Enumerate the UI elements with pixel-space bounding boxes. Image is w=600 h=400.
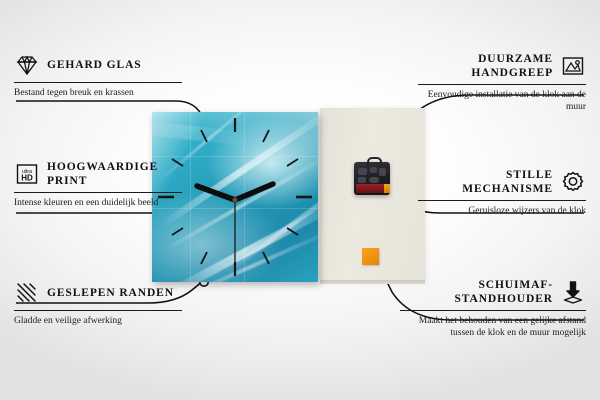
feature-title: HOOGWAARDIGE PRINT xyxy=(47,160,182,188)
tick-1 xyxy=(263,130,269,142)
feature-header: DUURZAME HANDGREEP xyxy=(418,52,586,80)
minute-hand xyxy=(197,186,235,200)
feature-header: GESLEPEN RANDEN xyxy=(14,280,182,306)
feature-title: STILLE MECHANISME xyxy=(418,168,553,196)
framed-picture-icon xyxy=(560,53,586,79)
feature-title: SCHUIMAF- STANDHOUDER xyxy=(400,278,553,306)
movement-detail xyxy=(379,168,386,176)
divider xyxy=(418,84,586,85)
feature-title: GEHARD GLAS xyxy=(47,58,142,72)
feature-header: GEHARD GLAS xyxy=(14,52,182,78)
feature-header: SCHUIMAF- STANDHOUDER xyxy=(400,278,586,306)
feature-header: STILLE MECHANISME xyxy=(418,168,586,196)
ultra-hd-icon: ultra HD xyxy=(14,161,40,187)
feature-description: Maakt het behouden van een gelijke afsta… xyxy=(400,315,586,339)
divider xyxy=(400,310,586,311)
gear-icon xyxy=(560,169,586,195)
tick-2 xyxy=(287,159,298,166)
movement-detail xyxy=(369,177,379,183)
feature-stille-mechanisme: STILLE MECHANISME Geruisloze wijzers van… xyxy=(418,168,586,217)
hatched-edge-icon xyxy=(14,280,40,306)
divider xyxy=(14,192,182,193)
press-down-arrow-icon xyxy=(560,279,586,305)
hands-hub xyxy=(232,197,237,202)
divider xyxy=(14,310,182,311)
tick-5 xyxy=(263,252,269,264)
divider xyxy=(14,82,182,83)
feature-description: Eenvoudige installatie van de klok aan d… xyxy=(418,89,586,113)
movement-detail xyxy=(370,167,377,173)
feature-description: Intense kleuren en een duidelijk beeld xyxy=(14,197,182,209)
tick-7 xyxy=(201,252,207,264)
divider xyxy=(418,200,586,201)
feature-description: Geruisloze wijzers van de klok xyxy=(418,205,586,217)
svg-text:HD: HD xyxy=(21,174,33,183)
quartz-movement xyxy=(354,162,390,195)
diamond-icon xyxy=(14,52,40,78)
feature-title: DUURZAME HANDGREEP xyxy=(418,52,553,80)
feature-schuimafstandhouder: SCHUIMAF- STANDHOUDER Maakt het behouden… xyxy=(400,278,586,339)
feature-header: ultra HD HOOGWAARDIGE PRINT xyxy=(14,160,182,188)
tick-4 xyxy=(287,228,298,235)
product-photo xyxy=(140,100,430,290)
feature-gehard-glas: GEHARD GLAS Bestand tegen breuk en krass… xyxy=(14,52,182,99)
movement-detail xyxy=(358,177,366,183)
feature-description: Bestand tegen breuk en krassen xyxy=(14,87,182,99)
tick-11 xyxy=(201,130,207,142)
foam-spacer xyxy=(362,248,379,265)
feature-title: GESLEPEN RANDEN xyxy=(47,286,174,300)
feature-duurzame-handgreep: DUURZAME HANDGREEP Eenvoudige installati… xyxy=(418,52,586,113)
hanging-hook-icon xyxy=(367,157,382,167)
movement-detail xyxy=(358,168,367,175)
infographic-canvas: GEHARD GLAS Bestand tegen breuk en krass… xyxy=(0,0,600,400)
feature-hoogwaardige-print: ultra HD HOOGWAARDIGE PRINT Intense kleu… xyxy=(14,160,182,209)
hour-hand xyxy=(235,184,273,200)
battery-terminal xyxy=(384,184,390,193)
feature-description: Gladde en veilige afwerking xyxy=(14,315,182,327)
tick-8 xyxy=(172,228,183,235)
feature-geslepen-randen: GESLEPEN RANDEN Gladde en veilige afwerk… xyxy=(14,280,182,327)
